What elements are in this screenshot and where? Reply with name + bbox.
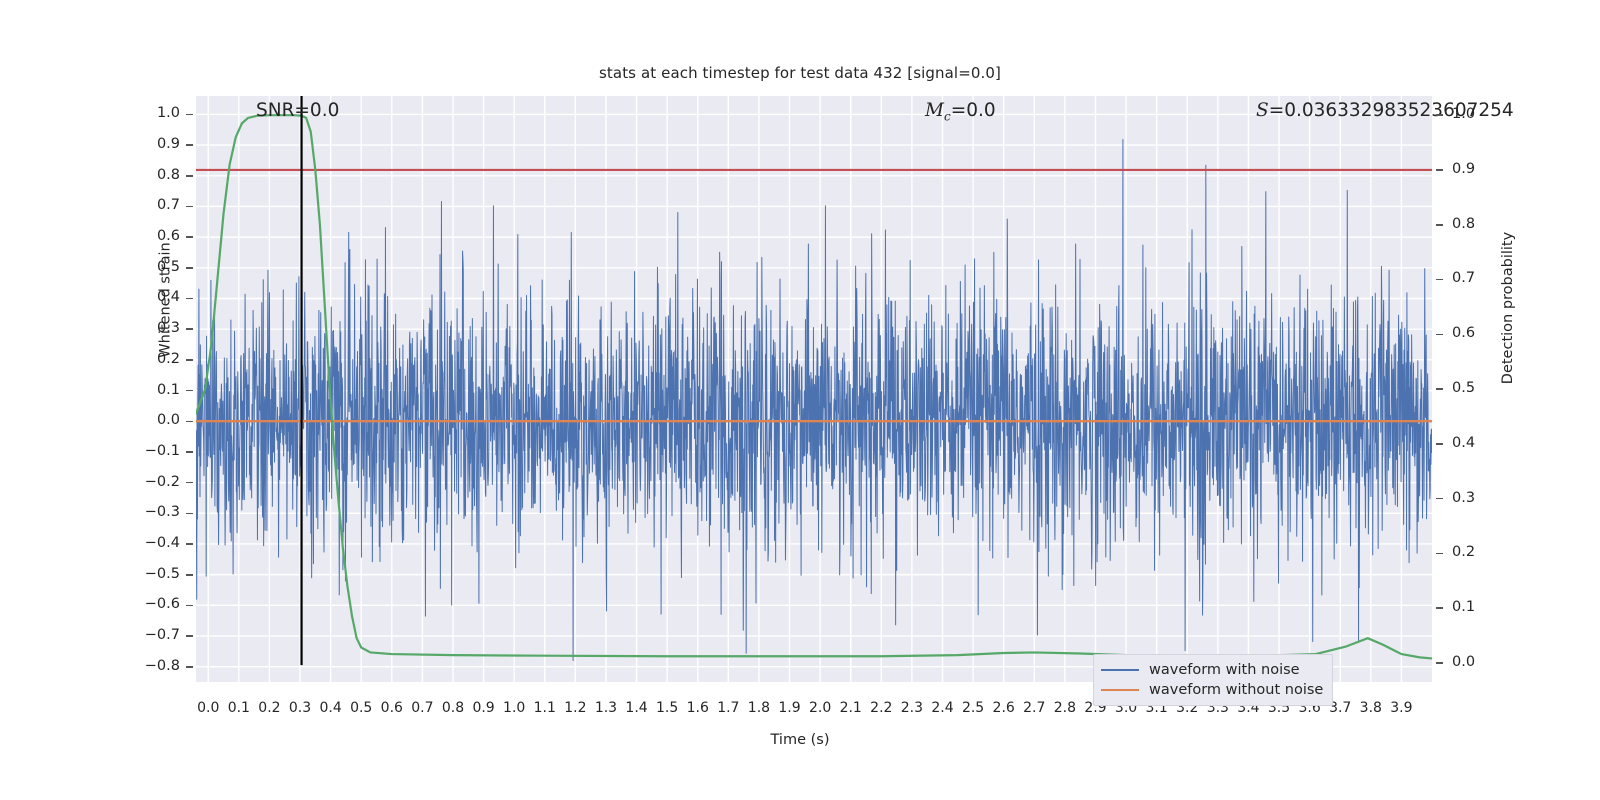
y-axis-left-tick-label: 0.0 — [134, 412, 180, 428]
y-axis-right-tick-label: 0.6 — [1452, 325, 1498, 341]
y-axis-left-tick-label: −0.8 — [134, 658, 180, 674]
y-axis-left-label: Whitened strain — [158, 242, 174, 357]
y-axis-left-tick-label: −0.3 — [134, 504, 180, 520]
series-waveform-with-noise — [196, 139, 1432, 660]
y-axis-right-tick-mark — [1436, 169, 1443, 171]
y-axis-right-tick-label: 0.5 — [1452, 380, 1498, 396]
y-axis-right-tick-mark — [1436, 607, 1443, 609]
y-axis-left-tick-label: 1.0 — [134, 105, 180, 121]
y-axis-right-tick-mark — [1436, 498, 1443, 500]
y-axis-right-tick-label: 0.1 — [1452, 599, 1498, 615]
y-axis-left-tick-mark — [186, 236, 193, 238]
y-axis-left-tick-mark — [186, 114, 193, 116]
y-axis-right-tick-mark — [1436, 553, 1443, 555]
y-axis-left-tick-label: −0.6 — [134, 596, 180, 612]
legend-item: waveform with noise — [1101, 660, 1323, 680]
legend-swatch-waveform-without-noise — [1101, 689, 1139, 692]
y-axis-left-tick-label: −0.4 — [134, 535, 180, 551]
y-axis-left-tick-label: −0.1 — [134, 443, 180, 459]
legend-label-waveform-without-noise: waveform without noise — [1149, 682, 1323, 698]
y-axis-right-tick-mark — [1436, 279, 1443, 281]
y-axis-left-tick-mark — [186, 267, 193, 269]
annotation-snr: SNR=0.0 — [256, 100, 339, 121]
y-axis-left-tick-mark — [186, 175, 193, 177]
annotation-chirp-mass: Mc=0.0 — [925, 100, 996, 124]
y-axis-left-tick-mark — [186, 298, 193, 300]
chirp-mass-subscript: c — [944, 110, 951, 124]
y-axis-right-tick-label: 0.9 — [1452, 161, 1498, 177]
score-symbol: S — [1256, 100, 1269, 121]
y-axis-right-tick-label: 0.3 — [1452, 490, 1498, 506]
y-axis-right-tick-label: 0.2 — [1452, 544, 1498, 560]
y-axis-left-tick-label: −0.7 — [134, 627, 180, 643]
y-axis-right-tick-label: 0.7 — [1452, 270, 1498, 286]
y-axis-left-tick-mark — [186, 666, 193, 668]
y-axis-left-tick-mark — [186, 328, 193, 330]
figure-canvas: stats at each timestep for test data 432… — [0, 0, 1600, 800]
y-axis-left-tick-mark — [186, 543, 193, 545]
y-axis-right-tick-label: 0.8 — [1452, 216, 1498, 232]
y-axis-left-tick-mark — [186, 482, 193, 484]
plot-axes-area — [196, 96, 1432, 682]
y-axis-left-tick-label: −0.5 — [134, 566, 180, 582]
y-axis-left-tick-mark — [186, 359, 193, 361]
y-axis-left-tick-mark — [186, 144, 193, 146]
y-axis-right-tick-label: 1.0 — [1452, 106, 1498, 122]
x-axis-tick-label: 3.9 — [1381, 700, 1421, 716]
y-axis-right-tick-mark — [1436, 388, 1443, 390]
chart-legend: waveform with noise waveform without noi… — [1093, 654, 1333, 706]
y-axis-right-tick-mark — [1436, 443, 1443, 445]
y-axis-left-tick-mark — [186, 574, 193, 576]
y-axis-left-tick-mark — [186, 390, 193, 392]
y-axis-right-label: Detection probability — [1500, 232, 1516, 384]
legend-item: waveform without noise — [1101, 680, 1323, 700]
legend-swatch-waveform-with-noise — [1101, 669, 1139, 672]
y-axis-left-tick-mark — [186, 513, 193, 515]
y-axis-left-tick-mark — [186, 605, 193, 607]
y-axis-right-tick-label: 0.0 — [1452, 654, 1498, 670]
y-axis-right-tick-label: 0.4 — [1452, 435, 1498, 451]
y-axis-left-tick-label: 0.1 — [134, 382, 180, 398]
y-axis-left-tick-label: −0.2 — [134, 474, 180, 490]
y-axis-left-tick-mark — [186, 206, 193, 208]
chart-title: stats at each timestep for test data 432… — [0, 64, 1600, 82]
x-axis-label: Time (s) — [0, 732, 1600, 748]
chirp-mass-symbol: M — [925, 100, 944, 121]
y-axis-left-tick-label: 0.9 — [134, 136, 180, 152]
y-axis-left-tick-mark — [186, 421, 193, 423]
y-axis-left-tick-label: 0.8 — [134, 167, 180, 183]
y-axis-right-tick-mark — [1436, 662, 1443, 664]
y-axis-left-tick-mark — [186, 451, 193, 453]
plot-svg — [196, 96, 1432, 682]
chirp-mass-value: =0.0 — [951, 100, 996, 121]
y-axis-left-tick-mark — [186, 635, 193, 637]
y-axis-right-tick-mark — [1436, 224, 1443, 226]
legend-label-waveform-with-noise: waveform with noise — [1149, 662, 1300, 678]
y-axis-right-tick-mark — [1436, 114, 1443, 116]
y-axis-right-tick-mark — [1436, 334, 1443, 336]
y-axis-left-tick-label: 0.7 — [134, 197, 180, 213]
